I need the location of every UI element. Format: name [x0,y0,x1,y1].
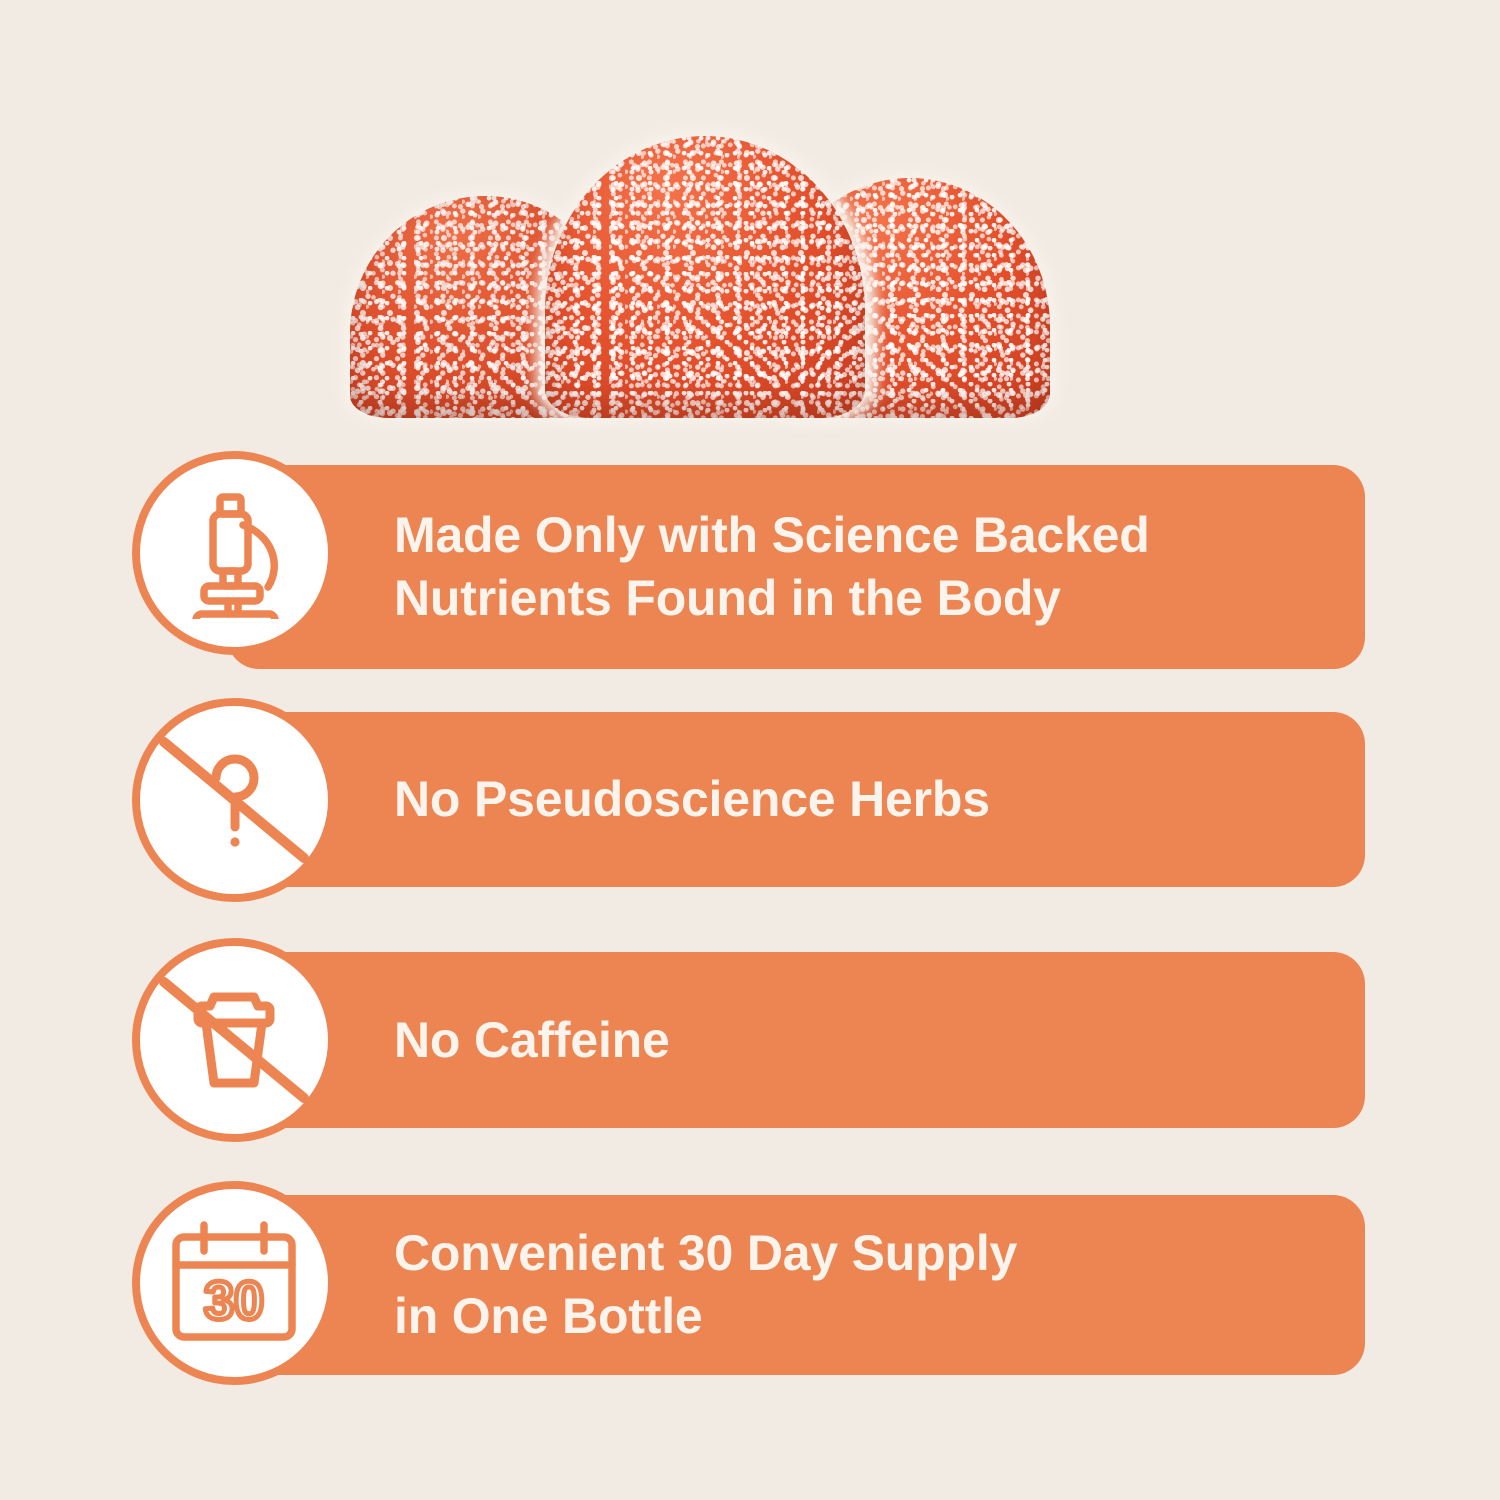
benefit-label: Made Only with Science Backed Nutrients … [394,451,1325,683]
benefit-row: Made Only with Science Backed Nutrients … [132,451,1365,683]
benefit-row: No Pseudoscience Herbs [132,698,1365,901]
calendar-number: 30 [204,1271,264,1331]
benefit-row: 30 Convenient 30 Day Supply in One Bottl… [132,1181,1365,1389]
no-coffee-cup-icon [132,938,336,1142]
no-question-mark-icon [132,698,336,902]
benefit-label: No Caffeine [394,938,1325,1142]
benefit-label: Convenient 30 Day Supply in One Bottle [394,1181,1325,1389]
benefit-label: No Pseudoscience Herbs [394,698,1325,901]
benefit-row: No Caffeine [132,938,1365,1142]
calendar-30-icon: 30 [132,1181,336,1385]
microscope-icon [132,451,336,655]
